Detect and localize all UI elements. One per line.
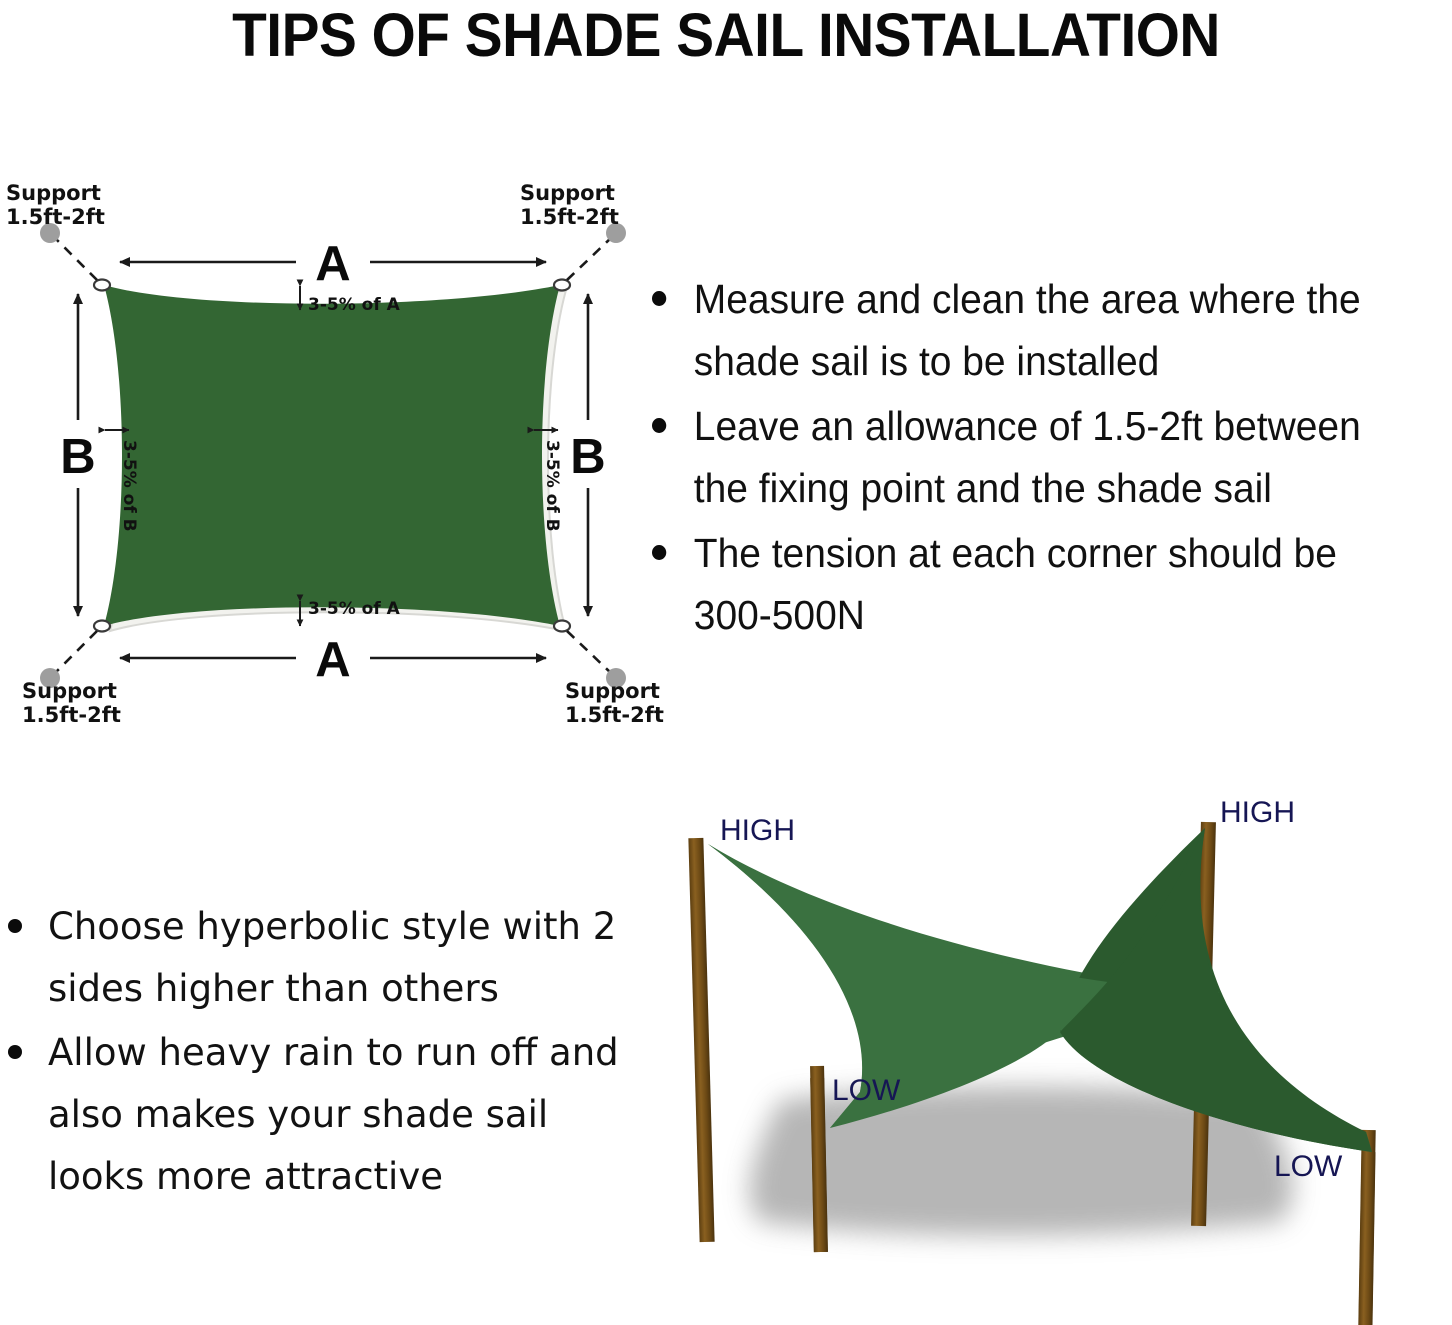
hyperbolic-style-tips-list: Choose hyperbolic style with 2 sides hig… — [8, 896, 620, 1210]
support-label-line1: Support — [565, 679, 660, 703]
list-item-text: Measure and clean the area where the sha… — [652, 268, 1412, 392]
post-high-left — [688, 838, 714, 1242]
list-item: Allow heavy rain to run off and also mak… — [8, 1022, 620, 1208]
list-item: Leave an allowance of 1.5-2ft between th… — [652, 395, 1412, 519]
label-high-left: HIGH — [720, 814, 795, 847]
list-item: Measure and clean the area where the sha… — [652, 268, 1412, 392]
support-label-top-left: Support 1.5ft-2ft — [6, 181, 105, 229]
curve-label-bottom: 3-5% of A — [308, 599, 401, 619]
label-high-right: HIGH — [1220, 796, 1295, 829]
support-label-top-right: Support 1.5ft-2ft — [520, 181, 619, 229]
support-label-line1: Support — [22, 679, 117, 703]
support-label-bottom-right: Support 1.5ft-2ft — [565, 679, 664, 727]
dimension-label-bottom-a: A — [315, 633, 350, 687]
curve-label-right: 3-5% of B — [542, 440, 562, 532]
dimension-label-top-a: A — [315, 237, 350, 291]
list-item-text: Choose hyperbolic style with 2 sides hig… — [8, 896, 620, 1020]
installation-tips-list: Measure and clean the area where the sha… — [652, 268, 1412, 649]
list-item: Choose hyperbolic style with 2 sides hig… — [8, 896, 620, 1020]
shade-sail-shape — [104, 285, 560, 626]
support-label-line2: 1.5ft-2ft — [565, 703, 664, 727]
dimension-label-left-b: B — [60, 430, 95, 484]
curve-label-top: 3-5% of A — [308, 295, 401, 315]
bullet-dot-icon — [652, 418, 666, 433]
bullet-dot-icon — [8, 1045, 22, 1059]
label-low-left: LOW — [832, 1074, 901, 1107]
support-label-line2: 1.5ft-2ft — [520, 205, 619, 229]
rectangular-sail-diagram: Support 1.5ft-2ft Support 1.5ft-2ft Supp… — [0, 158, 660, 738]
hyperbolic-sail-diagram: HIGH HIGH LOW LOW — [660, 780, 1452, 1325]
list-item-text: The tension at each corner should be 300… — [652, 522, 1412, 646]
support-label-line1: Support — [6, 181, 101, 205]
infographic-page: TIPS OF SHADE SAIL INSTALLATION — [0, 0, 1452, 1325]
label-low-right: LOW — [1274, 1150, 1343, 1183]
support-label-line1: Support — [520, 181, 615, 205]
list-item-text: Allow heavy rain to run off and also mak… — [8, 1022, 620, 1208]
curve-label-left: 3-5% of B — [119, 440, 139, 532]
page-title: TIPS OF SHADE SAIL INSTALLATION — [51, 2, 1401, 68]
support-label-line2: 1.5ft-2ft — [22, 703, 121, 727]
support-label-line2: 1.5ft-2ft — [6, 205, 105, 229]
bullet-dot-icon — [652, 291, 666, 306]
dimension-label-right-b: B — [570, 430, 605, 484]
support-label-bottom-left: Support 1.5ft-2ft — [22, 679, 121, 727]
bullet-dot-icon — [8, 919, 22, 933]
list-item-text: Leave an allowance of 1.5-2ft between th… — [652, 395, 1412, 519]
bullet-dot-icon — [652, 545, 666, 560]
list-item: The tension at each corner should be 300… — [652, 522, 1412, 646]
